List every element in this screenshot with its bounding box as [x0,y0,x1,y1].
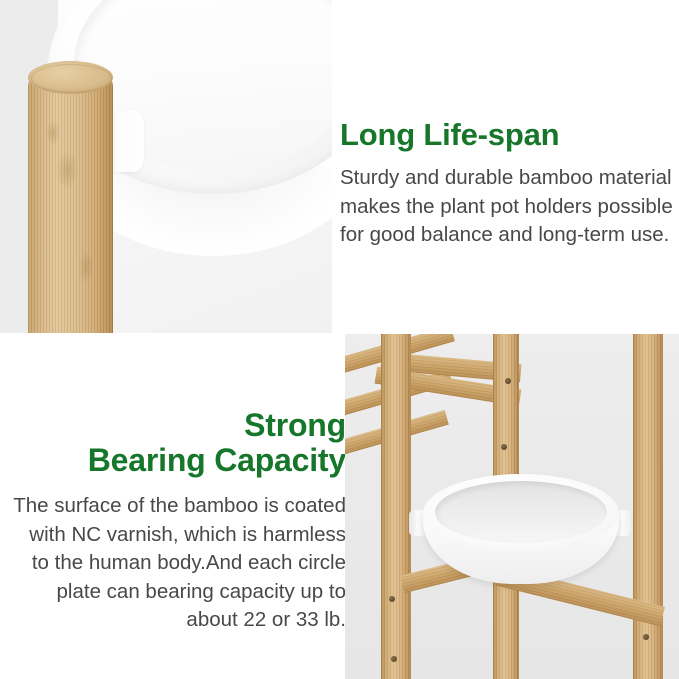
heading-long-life-span: Long Life-span [340,118,670,152]
feature-block-long-life-span: Long Life-span Sturdy and durable bamboo… [340,0,670,333]
product-photo-bamboo-leg [0,0,332,333]
heading-line: Strong [0,408,346,443]
product-photo-plant-stand [345,334,679,679]
body-line: Sturdy and durable bamboo material [340,164,670,193]
body-line: makes the plant pot holders possible [340,193,670,222]
bamboo-leg-post [28,61,113,333]
screw [391,656,397,662]
screw [501,444,507,450]
body-long-life-span: Sturdy and durable bamboo material makes… [340,164,670,250]
body-line: The surface of the bamboo is coated [0,492,346,521]
bamboo-grain-knot [46,120,60,146]
screw [643,634,649,640]
body-line: for good balance and long-term use. [340,221,670,250]
body-strong-bearing-capacity: The surface of the bamboo is coated with… [0,492,346,635]
bamboo-grain-knot [56,150,78,190]
white-circle-plate-basin [435,481,607,543]
bamboo-leg-cut-rim [31,64,112,93]
body-line: to the human body.And each circle [0,549,346,578]
body-line: about 22 or 33 lb. [0,606,346,635]
bamboo-grain-knot [78,250,94,284]
bamboo-post-right [633,334,663,679]
feature-panel: Long Life-span Sturdy and durable bamboo… [0,0,679,679]
screw [505,378,511,384]
body-line: with NC varnish, which is harmless [0,521,346,550]
body-line: plate can bearing capacity up to [0,578,346,607]
screw [389,596,395,602]
bamboo-post-left [381,334,411,679]
heading-line: Bearing Capacity [0,443,346,478]
heading-strong-bearing-capacity: Strong Bearing Capacity [0,408,346,478]
feature-block-strong-bearing-capacity: Strong Bearing Capacity The surface of t… [0,340,346,679]
